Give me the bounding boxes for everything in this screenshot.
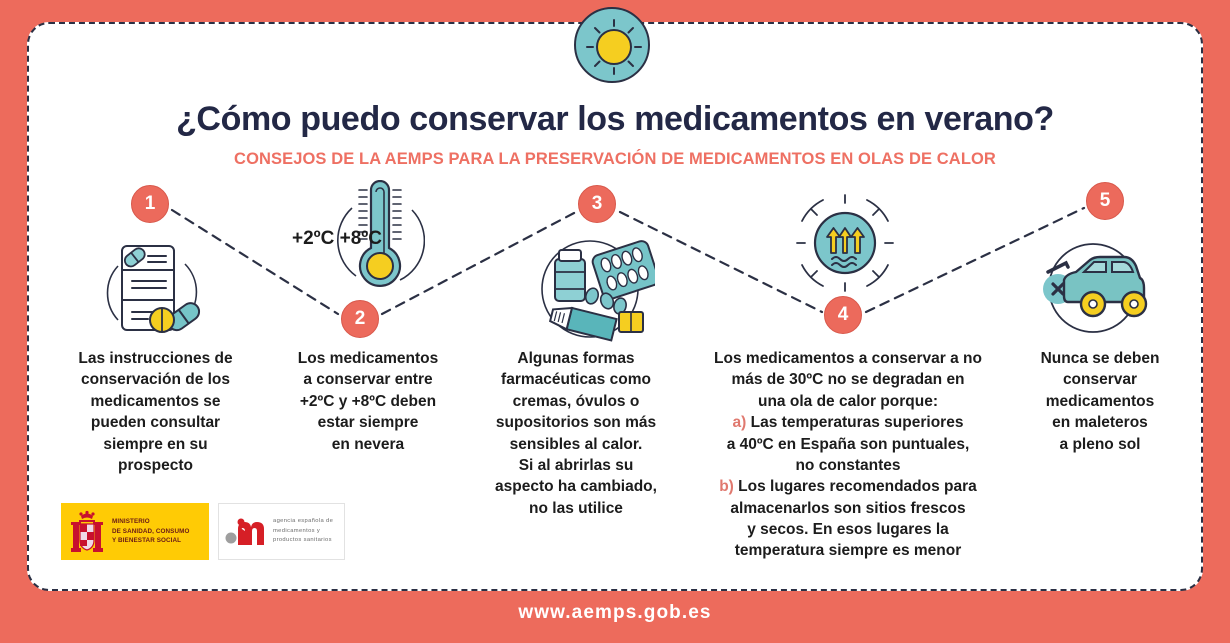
heat-rising-icon [793, 191, 897, 295]
step-badge-2: 2 [341, 300, 379, 338]
footer-url[interactable]: www.aemps.gob.es [0, 602, 1230, 624]
ministry-line-3: Y BIENESTAR SOCIAL [112, 536, 189, 546]
ministry-logo: MINISTERIO DE SANIDAD, CONSUMO Y BIENEST… [61, 503, 209, 560]
aemps-line-1: agencia española de [273, 517, 333, 527]
step-1-line-1: Las instrucciones de [48, 348, 263, 369]
spain-coat-of-arms-icon [67, 508, 107, 556]
step-badge-4: 4 [824, 296, 862, 334]
step-3-line-1: Algunas formas [466, 348, 686, 369]
step-4-sub-a-line-2: a 40ºC en España son puntuales, [688, 434, 1008, 455]
step-2-line-1: Los medicamentos [263, 348, 473, 369]
step-5-line-5: a pleno sol [1010, 434, 1190, 455]
step-text-2: Los medicamentos a conservar entre +2ºC … [263, 348, 473, 455]
step-1-line-3: medicamentos se [48, 391, 263, 412]
step-badge-3: 3 [578, 185, 616, 223]
step-2-line-5: en nevera [263, 434, 473, 455]
thermo-line-2: +8ºC [340, 228, 382, 249]
aemps-logo: agencia española de medicamentos y produ… [218, 503, 345, 560]
step-4-sub-b-text-1: Los lugares recomendados para [734, 478, 977, 495]
step-badge-1: 1 [131, 185, 169, 223]
step-4-sub-b-line-2: almacenarlos son sitios frescos [688, 498, 1008, 519]
step-3-line-5: sensibles al calor. [466, 434, 686, 455]
prospectus-document-pills-icon [90, 234, 210, 344]
step-5-line-2: conservar [1010, 369, 1190, 390]
step-text-1: Las instrucciones de conservación de los… [48, 348, 263, 476]
thermometer-range-label: +2ºC +8ºC [292, 228, 382, 249]
thermo-line-1: +2ºC [292, 228, 334, 249]
pharmaceutical-forms-icon [525, 234, 655, 344]
page-subtitle: CONSEJOS DE LA AEMPS PARA LA PRESERVACIÓ… [27, 150, 1203, 169]
step-2-line-3: +2ºC y +8ºC deben [263, 391, 473, 412]
step-1-line-2: conservación de los [48, 369, 263, 390]
step-4-sub-b-line-1: b) Los lugares recomendados para [688, 476, 1008, 497]
page-title: ¿Cómo puedo conservar los medicamentos e… [27, 100, 1203, 139]
step-4-line-1: Los medicamentos a conservar a no [688, 348, 1008, 369]
step-1-line-6: prospecto [48, 455, 263, 476]
step-badge-5: 5 [1086, 182, 1124, 220]
step-5-line-3: medicamentos [1010, 391, 1190, 412]
step-text-4: Los medicamentos a conservar a no más de… [688, 348, 1008, 562]
step-4-marker-b: b) [719, 478, 734, 495]
step-4-sub-a-text-1: Las temperaturas superiores [746, 414, 963, 431]
infographic-root: ¿Cómo puedo conservar los medicamentos e… [0, 0, 1230, 643]
step-2-line-2: a conservar entre [263, 369, 473, 390]
step-4-marker-a: a) [733, 414, 747, 431]
ministry-line-1: MINISTERIO [112, 517, 189, 527]
step-1-line-4: pueden consultar [48, 412, 263, 433]
step-3-line-4: supositorios son más [466, 412, 686, 433]
step-5-line-1: Nunca se deben [1010, 348, 1190, 369]
step-4-sub-b-line-4: temperatura siempre es menor [688, 540, 1008, 561]
sun-icon [574, 7, 650, 83]
step-4-sub-b-line-3: y secos. En esos lugares la [688, 519, 1008, 540]
step-3-line-2: farmacéuticas como [466, 369, 686, 390]
step-4-sub-a-line-3: no constantes [688, 455, 1008, 476]
step-4-line-2: más de 30ºC no se degradan en [688, 369, 1008, 390]
ministry-line-2: DE SANIDAD, CONSUMO [112, 527, 189, 537]
step-1-line-5: siempre en su [48, 434, 263, 455]
step-3-line-8: no las utilice [466, 498, 686, 519]
step-3-line-6: Si al abrirlas su [466, 455, 686, 476]
step-5-line-4: en maleteros [1010, 412, 1190, 433]
aemps-line-3: productos sanitarios [273, 536, 333, 546]
step-4-line-3: una ola de calor porque: [688, 391, 1008, 412]
step-4-sub-a-line-1: a) Las temperaturas superiores [688, 412, 1008, 433]
step-2-line-4: estar siempre [263, 412, 473, 433]
aemps-logo-text: agencia española de medicamentos y produ… [273, 517, 333, 547]
car-trunk-icon [1032, 236, 1154, 340]
step-3-line-3: cremas, óvulos o [466, 391, 686, 412]
step-3-line-7: aspecto ha cambiado, [466, 476, 686, 497]
step-text-3: Algunas formas farmacéuticas como cremas… [466, 348, 686, 519]
step-text-5: Nunca se deben conservar medicamentos en… [1010, 348, 1190, 455]
aemps-line-2: medicamentos y [273, 527, 333, 537]
aemps-m-logo-icon [225, 517, 269, 547]
ministry-logo-text: MINISTERIO DE SANIDAD, CONSUMO Y BIENEST… [112, 517, 189, 546]
